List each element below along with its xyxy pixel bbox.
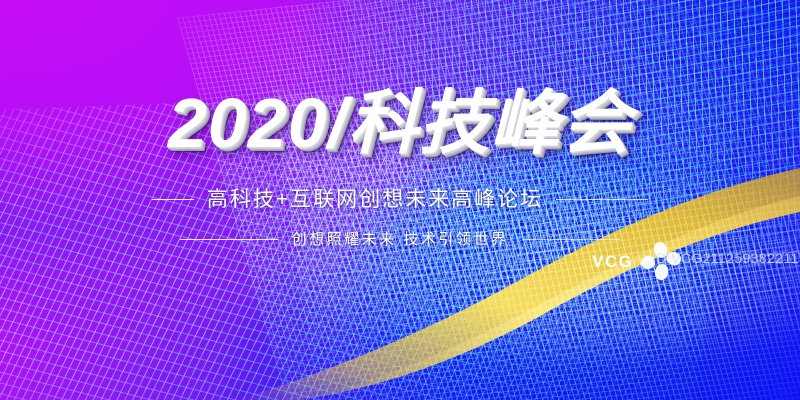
rule-left-short (152, 199, 194, 200)
rule-right-long (556, 199, 648, 200)
watermark-brand: VCG (592, 252, 633, 272)
poster-tagline: 创想照耀未来 技术引领世界 (292, 232, 509, 247)
watermark-ghost: ID:VCG (742, 248, 800, 270)
poster-content: 2020/科技峰会 高科技+互联网创想未来高峰论坛 创想照耀未来 技术引领世界 … (0, 0, 800, 400)
poster-subtitle: 高科技+互联网创想未来高峰论坛 (207, 189, 543, 210)
poster-canvas: 2020/科技峰会 高科技+互联网创想未来高峰论坛 创想照耀未来 技术引领世界 … (0, 0, 800, 400)
poster-title: 2020/科技峰会 (0, 88, 800, 158)
rule-right-tagline (522, 239, 620, 240)
rule-left-tagline (180, 239, 278, 240)
subtitle-row: 高科技+互联网创想未来高峰论坛 (0, 189, 800, 210)
